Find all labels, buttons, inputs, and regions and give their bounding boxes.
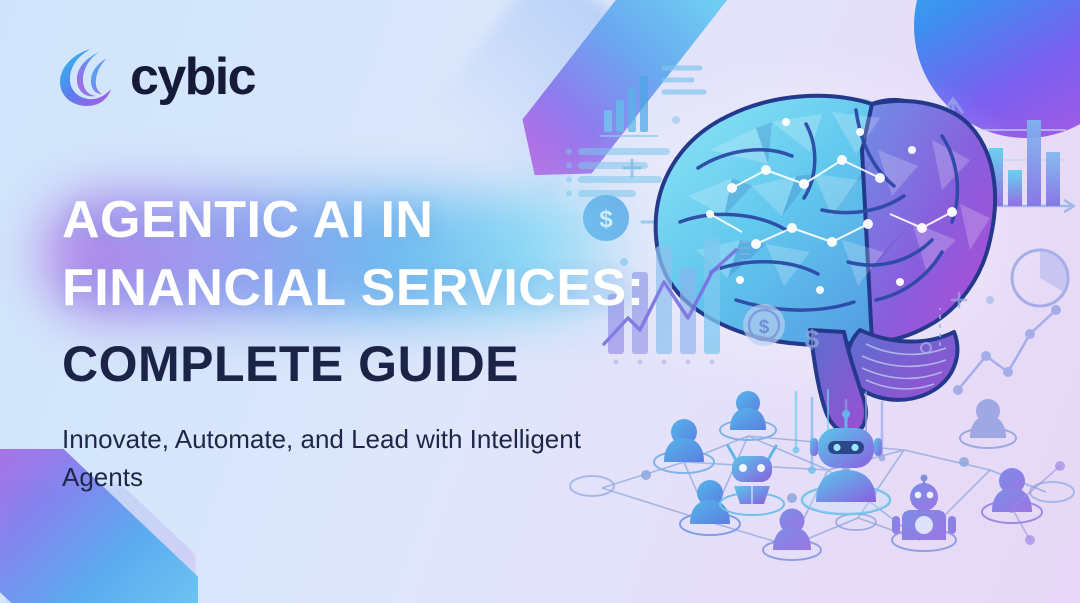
headline-block: AGENTIC AI IN FINANCIAL SERVICES: COMPLE… [62, 186, 702, 398]
crescent-swoosh-logo-icon [58, 46, 116, 108]
subtitle: Innovate, Automate, and Lead with Intell… [62, 420, 582, 496]
robot-icon [802, 410, 890, 514]
brand-wordmark: cybic [130, 51, 255, 103]
headline-line-1: AGENTIC AI IN [62, 186, 702, 254]
user-avatar-icon [960, 399, 1016, 448]
dollar-sign-icon: $ [805, 324, 820, 354]
dollar-coin-icon: $ [743, 304, 785, 346]
svg-text:$: $ [759, 317, 770, 338]
chevron-corner-glow [6, 483, 196, 603]
brand-logo[interactable]: cybic [58, 46, 255, 108]
user-avatar-icon [654, 419, 714, 473]
user-avatar-icon [680, 480, 740, 535]
hero-banner: $ € [0, 0, 1080, 603]
headline-line-2: FINANCIAL SERVICES: [62, 254, 702, 322]
user-avatar-icon [763, 509, 821, 561]
user-avatar-icon [982, 468, 1042, 523]
robot-icon [720, 446, 784, 515]
headline-line-3: COMPLETE GUIDE [62, 330, 702, 398]
